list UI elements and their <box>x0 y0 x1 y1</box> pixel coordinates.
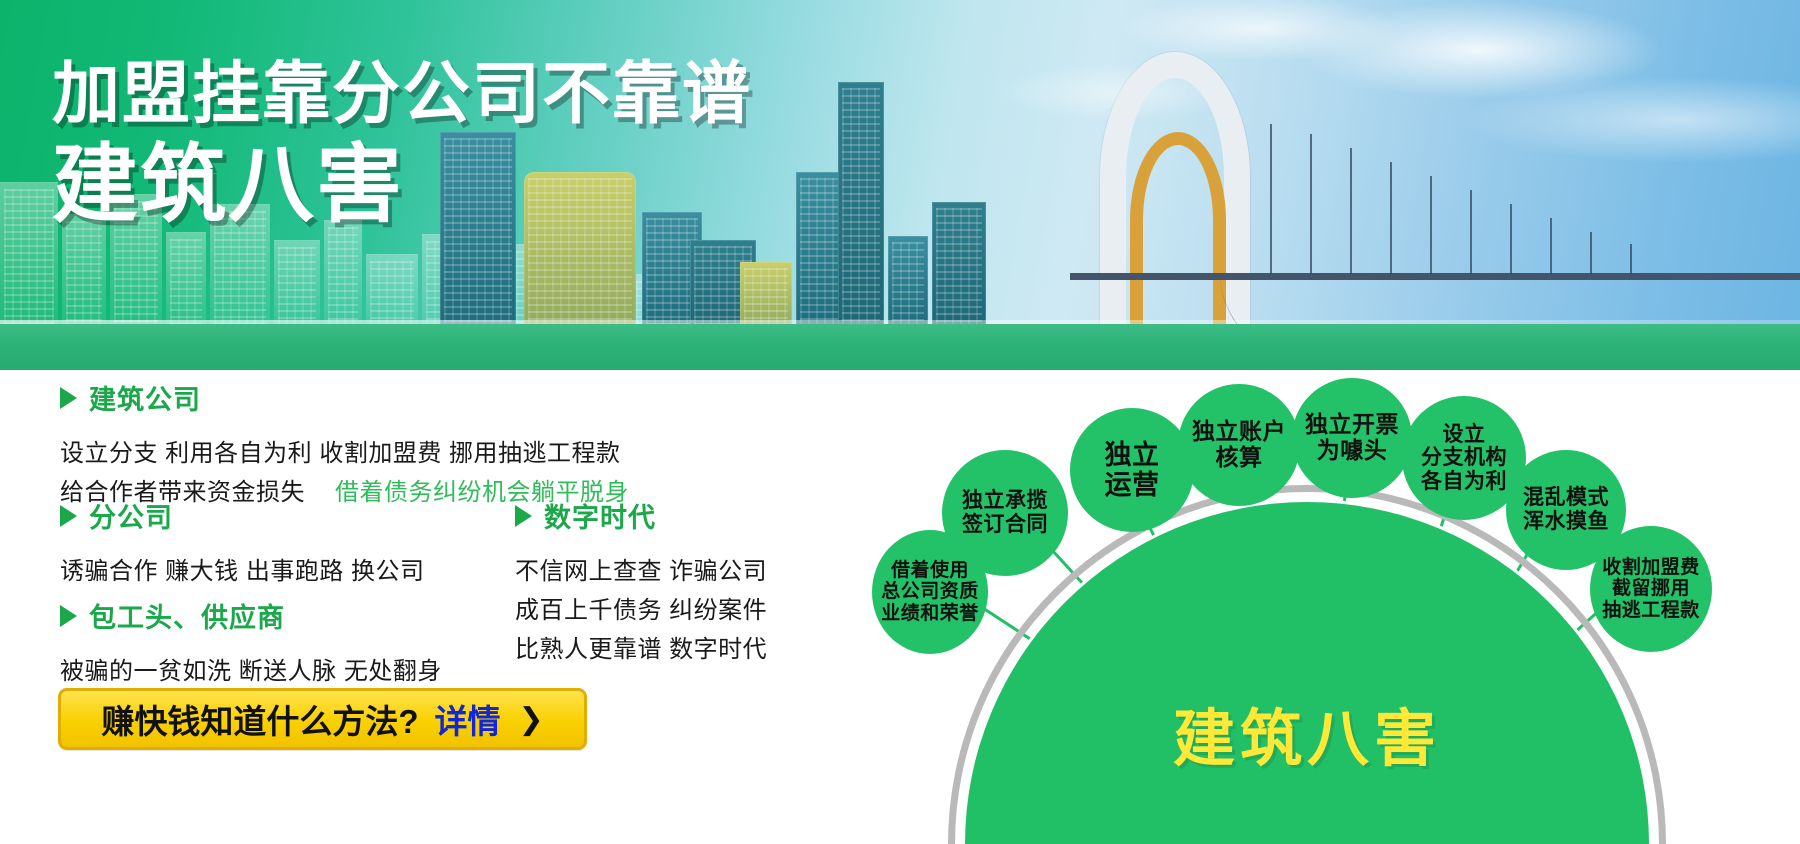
section-line: 成百上千债务 纠纷案件 <box>515 590 767 625</box>
cta-button[interactable]: 赚快钱知道什么方法? 详情 ❯ <box>58 688 587 750</box>
bubble-line: 收割加盟费 <box>1602 557 1700 578</box>
bubble-line: 运营 <box>1105 470 1160 500</box>
section-line: 比熟人更靠谱 数字时代 <box>515 629 767 664</box>
headline-line-2: 建筑八害 <box>52 139 752 232</box>
bubble-line: 设立 <box>1443 423 1486 447</box>
section-header: 分公司 <box>60 496 425 535</box>
bubble-line: 总公司资质 <box>881 581 979 602</box>
bubble-line: 各自为利 <box>1421 470 1507 494</box>
bubble-line: 独立账户 <box>1192 419 1286 445</box>
bubble-line: 借着使用 <box>891 560 969 581</box>
headline-line-1: 加盟挂靠分公司不靠谱 <box>52 58 752 131</box>
bubble-independent-account[interactable]: 独立账户 核算 <box>1178 384 1300 506</box>
section-header: 包工头、供应商 <box>60 596 442 635</box>
cta-label: 赚快钱知道什么方法? <box>101 695 418 743</box>
section-construction-company: 建筑公司 设立分支 利用各自为利 收割加盟费 挪用抽逃工程款 给合作者带来资金损… <box>60 378 629 507</box>
cta-link-label[interactable]: 详情 <box>435 695 501 743</box>
bubble-line: 核算 <box>1216 445 1263 471</box>
section-title: 数字时代 <box>544 496 656 535</box>
section-line: 诱骗合作 赚大钱 出事跑路 换公司 <box>60 551 425 586</box>
bridge-arch-inner <box>1130 132 1226 332</box>
chevron-right-icon: ❯ <box>519 702 544 737</box>
triangle-bullet-icon <box>515 505 532 527</box>
bubble-line: 独立承揽 <box>962 489 1048 513</box>
triangle-bullet-icon <box>60 505 77 527</box>
bridge-deck <box>1070 273 1800 280</box>
section-line: 不信网上查查 诈骗公司 <box>515 551 767 586</box>
section-title: 分公司 <box>89 496 173 535</box>
section-line: 被骗的一贫如洗 断送人脉 无处翻身 <box>60 651 442 686</box>
bubble-independent-operation[interactable]: 独立 运营 <box>1070 408 1194 532</box>
section-title: 建筑公司 <box>89 378 201 417</box>
section-body: 被骗的一贫如洗 断送人脉 无处翻身 <box>60 651 442 686</box>
liede-bridge-illustration <box>920 32 1680 332</box>
bubble-independent-contracting[interactable]: 独立承揽 签订合同 <box>942 450 1068 576</box>
bubble-line: 混乱模式 <box>1523 486 1609 510</box>
bahai-diagram: 建筑八害 借着使用 总公司资质 业绩和荣誉 独立承揽 签订合同 独立 运营 独立… <box>830 378 1800 844</box>
bubble-line: 浑水摸鱼 <box>1523 510 1609 534</box>
section-line: 设立分支 利用各自为利 收割加盟费 挪用抽逃工程款 <box>60 433 629 468</box>
dome-label: 建筑八害 <box>1173 688 1441 778</box>
triangle-bullet-icon <box>60 387 77 409</box>
section-contractor-supplier: 包工头、供应商 被骗的一贫如洗 断送人脉 无处翻身 <box>60 596 442 686</box>
section-branch-company: 分公司 诱骗合作 赚大钱 出事跑路 换公司 <box>60 496 425 586</box>
hero-banner: 加盟挂靠分公司不靠谱 建筑八害 <box>0 0 1800 370</box>
hero-title-block: 加盟挂靠分公司不靠谱 建筑八害 <box>52 58 752 232</box>
bubble-line: 独立 <box>1105 440 1160 470</box>
section-header: 数字时代 <box>515 496 767 535</box>
bubble-line: 抽逃工程款 <box>1602 600 1700 621</box>
bubble-franchise-fee-siphoning[interactable]: 收割加盟费 截留挪用 抽逃工程款 <box>1590 526 1712 652</box>
ground-strip <box>0 324 1800 370</box>
bubble-line: 独立开票 <box>1305 412 1399 438</box>
bubble-line: 为噱头 <box>1317 438 1388 464</box>
bubble-line: 签订合同 <box>962 513 1048 537</box>
bubble-line: 分支机构 <box>1421 446 1507 470</box>
section-body: 不信网上查查 诈骗公司 成百上千债务 纠纷案件 比熟人更靠谱 数字时代 <box>515 551 767 664</box>
hero-divider <box>0 370 1800 378</box>
section-title: 包工头、供应商 <box>89 596 285 635</box>
triangle-bullet-icon <box>60 605 77 627</box>
section-digital-era: 数字时代 不信网上查查 诈骗公司 成百上千债务 纠纷案件 比熟人更靠谱 数字时代 <box>515 496 767 664</box>
bubble-line: 截留挪用 <box>1612 578 1690 599</box>
left-content-column: 建筑公司 设立分支 利用各自为利 收割加盟费 挪用抽逃工程款 给合作者带来资金损… <box>0 378 830 844</box>
section-body: 诱骗合作 赚大钱 出事跑路 换公司 <box>60 551 425 586</box>
bubble-line: 业绩和荣誉 <box>881 603 979 624</box>
section-header: 建筑公司 <box>60 378 629 417</box>
bubble-independent-invoicing[interactable]: 独立开票 为噱头 <box>1292 378 1412 498</box>
